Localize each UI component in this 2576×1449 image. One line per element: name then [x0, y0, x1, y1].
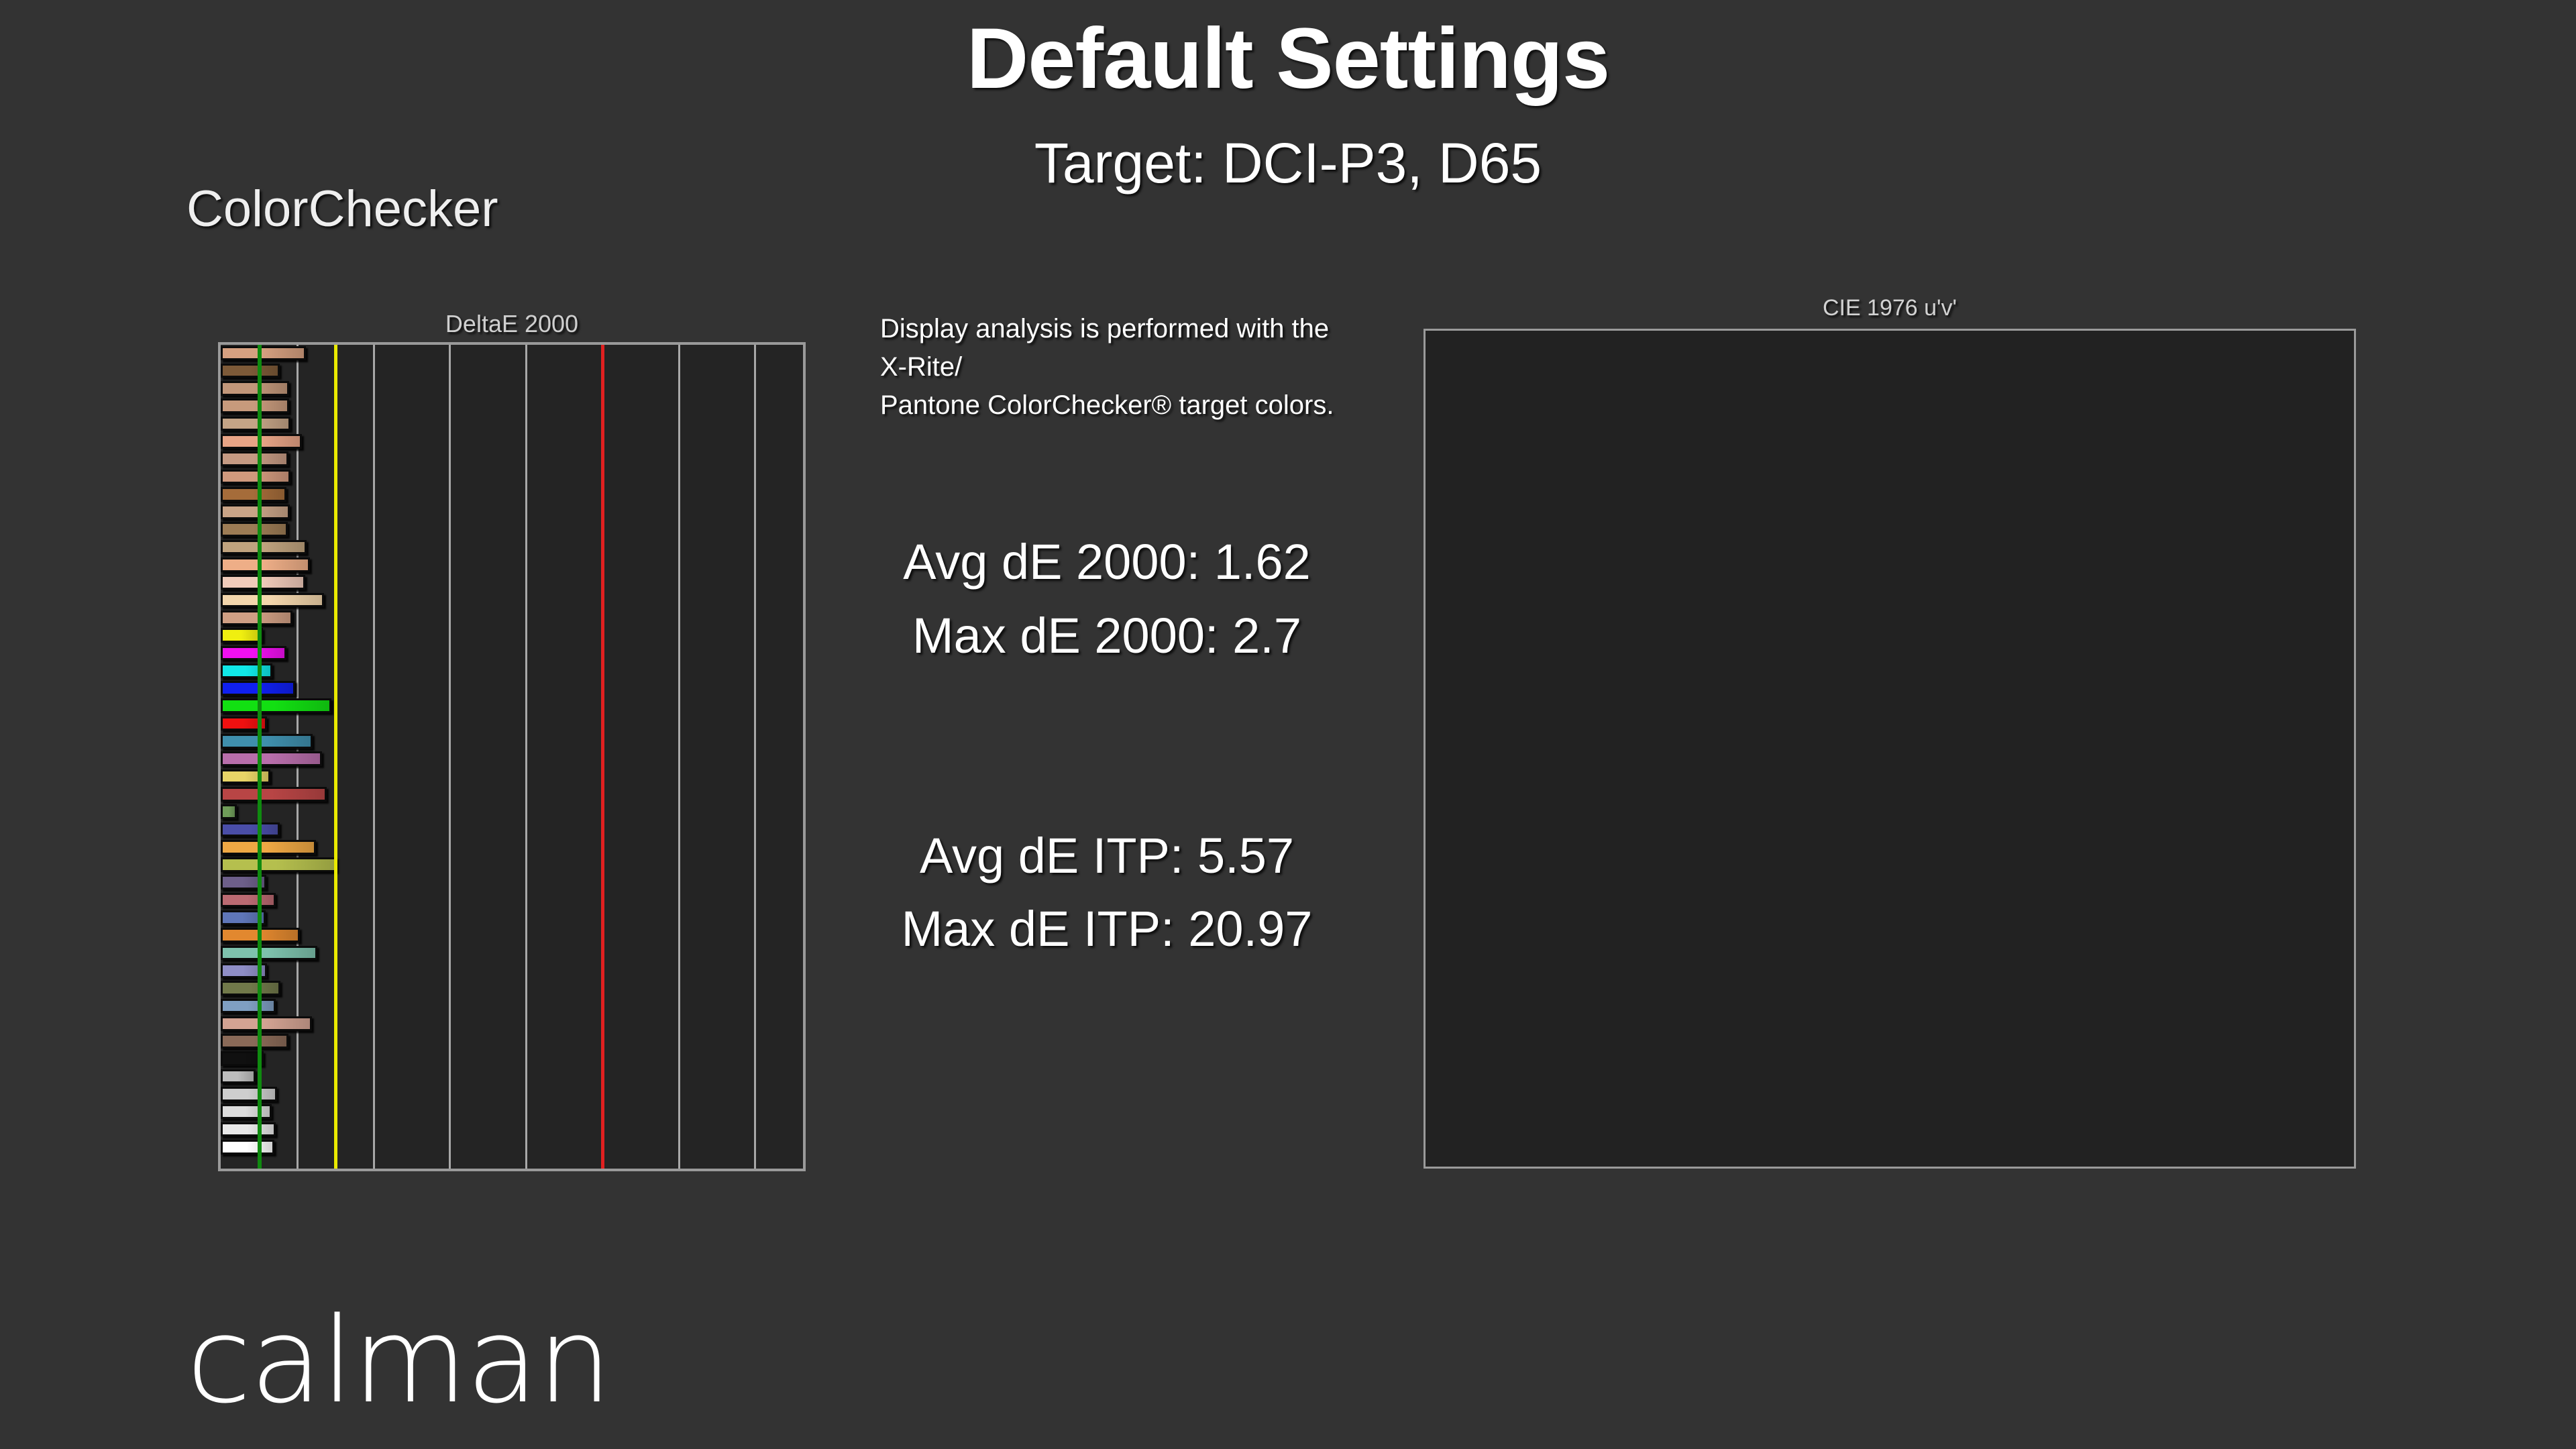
deltae-bar: [221, 840, 316, 855]
deltae-bar: [221, 1034, 288, 1049]
deltae-bar: [221, 504, 290, 519]
deltae-bar: [221, 398, 289, 413]
deltae-bar: [221, 751, 322, 766]
deltae-bar-chart: [218, 342, 806, 1171]
deltae-bar: [221, 540, 307, 555]
cie-chromaticity-chart: [1424, 329, 2356, 1169]
deltae-bar: [221, 346, 306, 361]
deltae-bar: [221, 1087, 277, 1102]
deltae-bar: [221, 787, 327, 802]
deltae-bar: [221, 1104, 272, 1119]
calman-logo-text: calman: [186, 1292, 610, 1430]
deltae-bar: [221, 575, 305, 590]
deltae-plot-area: [218, 342, 806, 1171]
deltae-bar: [221, 769, 270, 784]
deltae-bar: [221, 893, 276, 908]
deltae-bar: [221, 522, 288, 537]
deltae-bar: [221, 381, 289, 396]
deltae-bar: [221, 734, 313, 749]
deltae-bar: [221, 698, 331, 713]
analysis-description: Display analysis is performed with the X…: [880, 310, 1350, 424]
deltae-bar: [221, 1069, 256, 1084]
deltae-bar: [221, 1122, 276, 1137]
calman-logo: calman: [31, 1295, 668, 1429]
deltae-bar: [221, 417, 290, 431]
deltae-bar: [221, 857, 337, 872]
deltae-bar: [221, 487, 286, 502]
colorchecker-heading: ColorChecker: [186, 180, 498, 238]
deltae-bar: [221, 451, 288, 466]
deltae-bar: [221, 646, 286, 661]
deltae-bar: [221, 981, 280, 996]
deltae-bar: [221, 470, 290, 484]
deltae-bar: [221, 593, 324, 608]
deltae-bar: [221, 557, 310, 572]
deltae-bar: [221, 1016, 312, 1031]
deltae-bar: [221, 1140, 274, 1155]
page-title: Default Settings: [0, 9, 2576, 108]
deltae-bar: [221, 822, 280, 837]
analysis-description-line1: Display analysis is performed with the X…: [880, 310, 1350, 386]
deltae-bar: [221, 804, 237, 819]
cie-x-axis: [1424, 1171, 2356, 1231]
deltae-chart-title: DeltaE 2000: [218, 310, 806, 338]
deltae-bar: [221, 610, 292, 625]
analysis-description-line2: Pantone ColorChecker® target colors.: [880, 386, 1350, 425]
deltae-bar: [221, 663, 272, 678]
deltae-bars: [221, 345, 803, 1169]
deltae-bar: [221, 999, 276, 1014]
deltae-bar: [221, 946, 317, 961]
deltae-bar: [221, 628, 263, 643]
cie-plot-area: [1424, 329, 2356, 1169]
calman-logo-mark-icon: [31, 1295, 165, 1429]
red-threshold: [601, 345, 604, 1169]
deltae-x-axis: [218, 1174, 806, 1234]
cie-chart-title: CIE 1976 u'v': [1424, 295, 2356, 321]
cie-y-axis: [1342, 329, 1424, 1169]
yellow-threshold: [334, 345, 337, 1169]
green-threshold: [258, 345, 262, 1169]
cie-diagram-svg: [1426, 331, 2356, 1169]
deltae-bar: [221, 364, 280, 378]
